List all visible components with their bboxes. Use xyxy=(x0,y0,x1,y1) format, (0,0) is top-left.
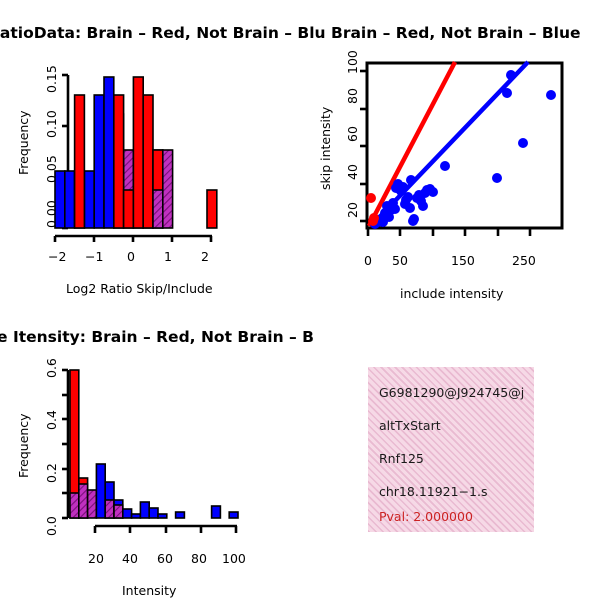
intensity-y-axis xyxy=(62,370,68,518)
info-line-gene: Rnf125 xyxy=(379,451,424,466)
ratio-histogram-canvas xyxy=(0,0,300,300)
scatter-canvas xyxy=(300,0,600,300)
info-line-locus: chr18.11921−1.s xyxy=(379,484,488,499)
intensity-bars xyxy=(70,370,238,518)
info-line-id: G6981290@J924745@j xyxy=(379,385,524,400)
scatter-fit-line-brain xyxy=(369,62,455,226)
ratio-x-axis xyxy=(55,236,212,242)
intensity-x-axis xyxy=(95,526,237,533)
intensity-histogram-canvas xyxy=(0,300,300,600)
info-line-event: altTxStart xyxy=(379,418,441,433)
scatter-points-not-brain xyxy=(370,70,556,229)
ratio-bars-overlap xyxy=(153,150,173,228)
gene-info-box: G6981290@J924745@j altTxStart Rnf125 chr… xyxy=(368,367,534,532)
info-line-pval: Pval: 2.000000 xyxy=(379,509,473,524)
